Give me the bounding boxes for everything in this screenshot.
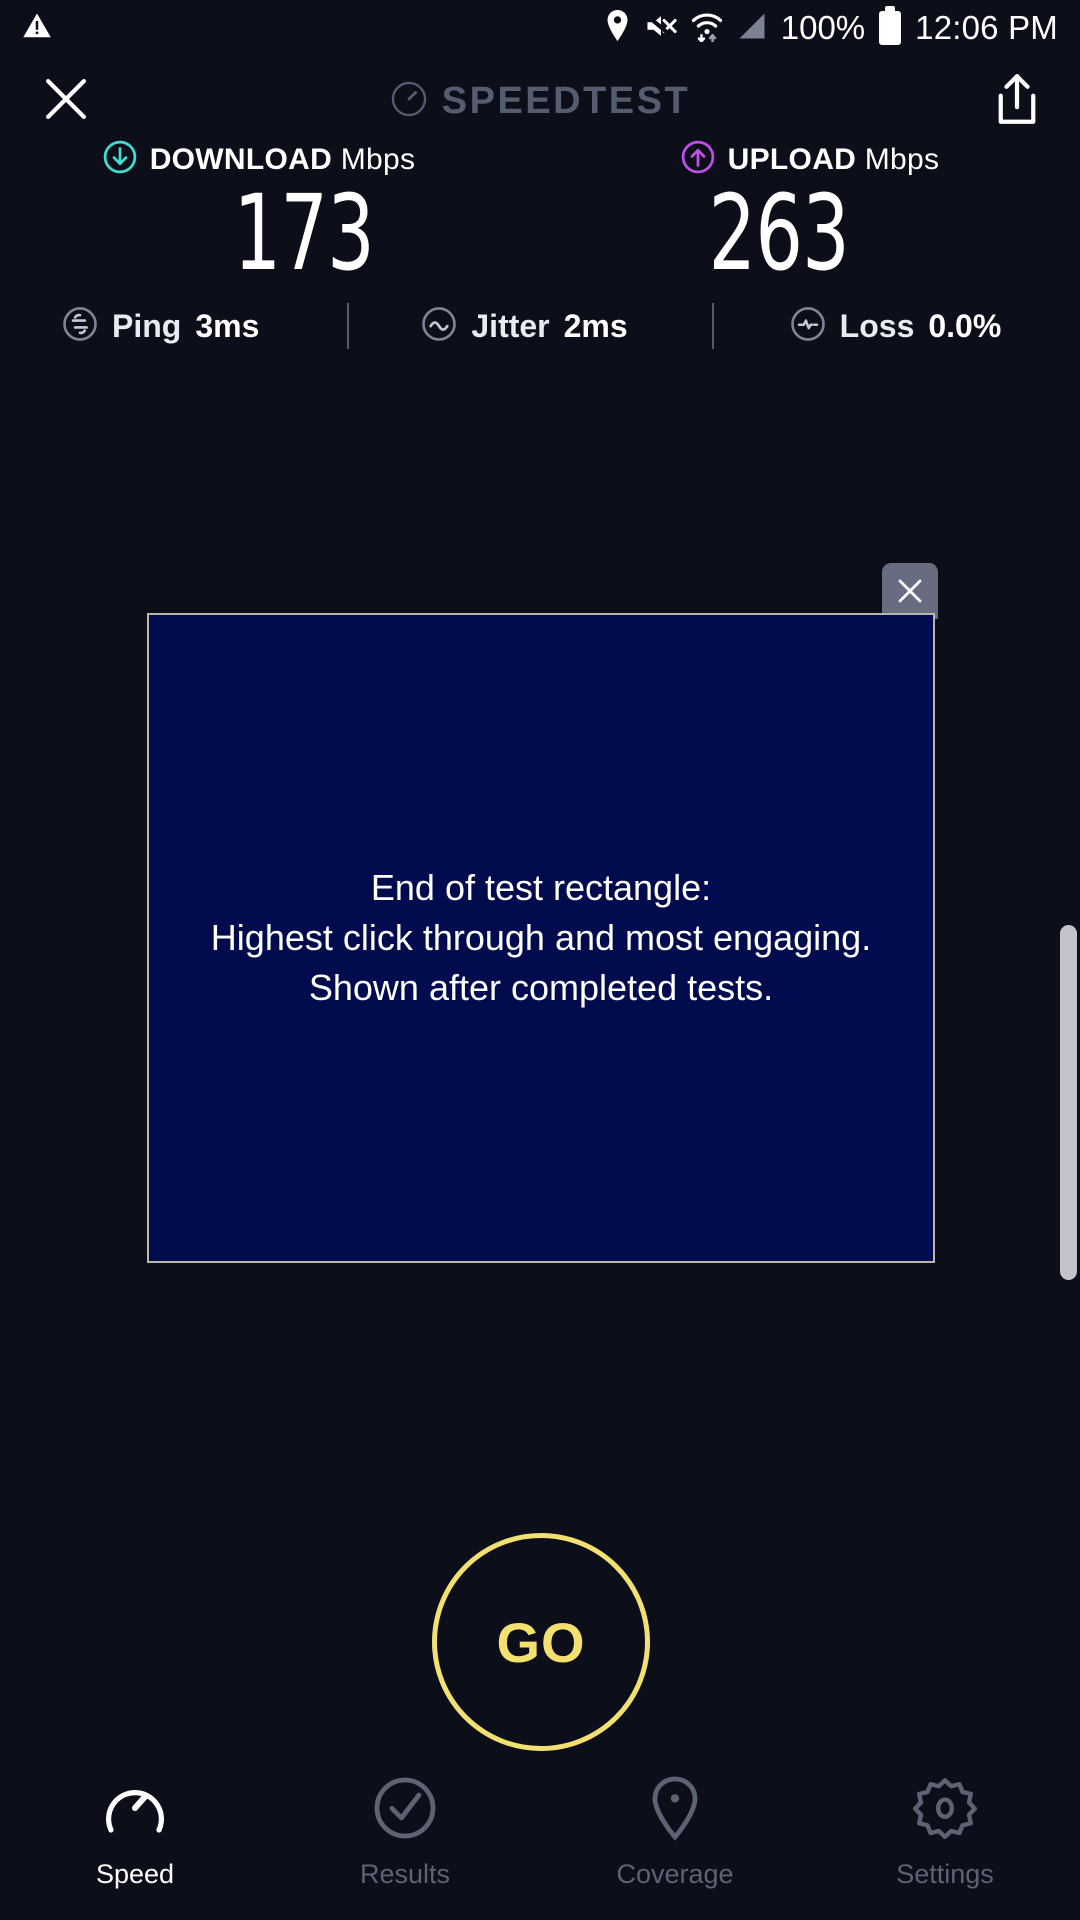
nav-item-results[interactable]: Results bbox=[270, 1774, 540, 1890]
ping-icon bbox=[62, 306, 98, 347]
gear-icon bbox=[911, 1774, 979, 1847]
close-x-icon[interactable] bbox=[40, 73, 92, 130]
nav-item-coverage[interactable]: Coverage bbox=[540, 1774, 810, 1890]
cellular-signal-icon bbox=[737, 11, 767, 46]
ad-line-3: Shown after completed tests. bbox=[211, 963, 871, 1013]
volume-muted-icon bbox=[645, 11, 677, 46]
go-button[interactable]: GO bbox=[432, 1533, 650, 1751]
battery-full-icon bbox=[879, 11, 901, 45]
metrics-row: Ping 3ms Jitter 2ms Los bbox=[0, 298, 1080, 354]
nav-label-results: Results bbox=[360, 1859, 450, 1890]
upload-value: 263 bbox=[709, 177, 849, 289]
metric-ping-label: Ping bbox=[112, 308, 181, 345]
ad-line-2: Highest click through and most engaging. bbox=[211, 913, 871, 963]
status-bar-right-icons: 100% 12:06 PM bbox=[604, 9, 1058, 47]
nav-label-settings: Settings bbox=[896, 1859, 994, 1890]
loss-icon bbox=[790, 306, 826, 347]
metric-loss-value: 0.0% bbox=[928, 308, 1001, 345]
metric-ping-value: 3ms bbox=[195, 308, 259, 345]
check-circle-icon bbox=[371, 1774, 439, 1847]
download-value: 173 bbox=[234, 177, 374, 289]
speedometer-icon bbox=[390, 80, 428, 123]
upload-unit: Mbps bbox=[865, 143, 940, 176]
wifi-signal-icon bbox=[691, 10, 723, 47]
ad-line-1: End of test rectangle: bbox=[211, 863, 871, 913]
app-header: SPEEDTEST bbox=[0, 56, 1080, 146]
metrics-divider-2 bbox=[712, 303, 714, 349]
advertisement-banner[interactable]: End of test rectangle: Highest click thr… bbox=[147, 613, 935, 1263]
ad-close-button[interactable] bbox=[882, 563, 938, 619]
metric-jitter-label: Jitter bbox=[471, 308, 549, 345]
app-title: SPEEDTEST bbox=[442, 80, 690, 123]
download-unit: Mbps bbox=[341, 143, 416, 176]
nav-item-settings[interactable]: Settings bbox=[810, 1774, 1080, 1890]
ad-text-block: End of test rectangle: Highest click thr… bbox=[211, 863, 871, 1012]
nav-label-speed: Speed bbox=[96, 1859, 174, 1890]
speed-readouts: DOWNLOAD Mbps 173 UPLOAD Mbps 263 bbox=[0, 140, 1080, 289]
speedometer-icon bbox=[101, 1774, 169, 1847]
metrics-divider bbox=[347, 303, 349, 349]
metric-jitter-value: 2ms bbox=[564, 308, 628, 345]
page-scrollbar[interactable] bbox=[1060, 925, 1077, 1280]
upload-readout: UPLOAD Mbps 263 bbox=[540, 140, 1080, 289]
metric-ping: Ping 3ms bbox=[62, 306, 259, 347]
app-logo: SPEEDTEST bbox=[0, 56, 1080, 146]
speedtest-app-screen: 100% 12:06 PM SPEEDTEST bbox=[0, 0, 1080, 1920]
jitter-icon bbox=[421, 306, 457, 347]
download-readout: DOWNLOAD Mbps 173 bbox=[0, 140, 540, 289]
bottom-navigation-bar: Speed Results Coverage bbox=[0, 1760, 1080, 1920]
status-bar-left-icons bbox=[22, 11, 52, 46]
status-bar: 100% 12:06 PM bbox=[0, 0, 1080, 56]
metric-loss-label: Loss bbox=[840, 308, 915, 345]
arrow-down-circle-icon bbox=[103, 140, 137, 179]
warning-triangle-icon bbox=[22, 11, 52, 46]
status-bar-clock: 12:06 PM bbox=[915, 9, 1058, 47]
share-upload-icon[interactable] bbox=[994, 73, 1040, 130]
location-pin-icon bbox=[604, 10, 631, 46]
metric-loss: Loss 0.0% bbox=[790, 306, 1002, 347]
location-pin-icon bbox=[641, 1774, 709, 1847]
metric-jitter: Jitter 2ms bbox=[421, 306, 627, 347]
close-x-icon bbox=[895, 576, 925, 606]
nav-item-speed[interactable]: Speed bbox=[0, 1774, 270, 1890]
go-button-label: GO bbox=[496, 1610, 585, 1675]
nav-label-coverage: Coverage bbox=[616, 1859, 733, 1890]
battery-percent-label: 100% bbox=[781, 9, 865, 47]
